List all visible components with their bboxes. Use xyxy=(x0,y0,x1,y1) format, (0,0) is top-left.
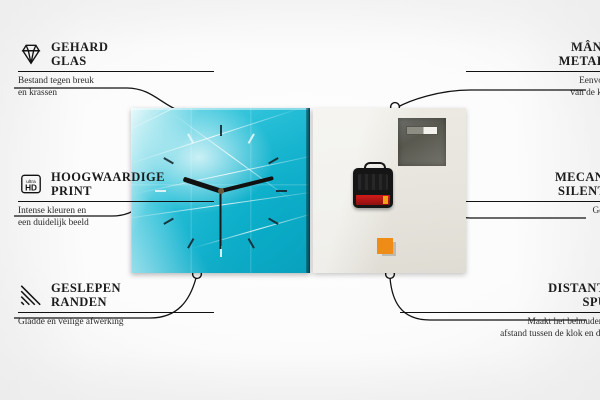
feature-mecanism-silentios: MECANISM SILENȚIOS Geruisloze wijzers va… xyxy=(466,170,600,229)
feature-title-line1: MÂNERE xyxy=(559,40,600,54)
feature-subtitle-line2: en krassen xyxy=(18,88,214,99)
infographic-canvas: GEHARD GLAS Bestand tegen breuk en krass… xyxy=(0,0,600,400)
feature-subtitle-line2: afstand tussen de klok en de muur mogeli… xyxy=(400,329,600,340)
feature-subtitle-line1: Maakt het behouden van een gelijke xyxy=(400,317,600,328)
metal-hanger-plate xyxy=(398,118,446,166)
glass-top-edge xyxy=(131,108,310,110)
divider xyxy=(18,312,214,313)
divider xyxy=(466,201,600,202)
feature-subtitle-line1: Eenvoudige installatie xyxy=(466,76,600,87)
divider xyxy=(18,71,214,72)
feature-manere-metalice: MÂNERE METALICE Eenvoudige installatie v… xyxy=(466,40,600,99)
feature-hoogwaardige-print: ultra HD HOOGWAARDIGE PRINT Intense kleu… xyxy=(18,170,214,229)
feature-title-line1: GESLEPEN xyxy=(51,281,121,295)
feature-title-line1: MECANISM xyxy=(555,170,600,184)
feature-title-line1: HOOGWAARDIGE xyxy=(51,170,165,184)
feature-subtitle-line2: van de klok aan de muur xyxy=(466,88,600,99)
battery xyxy=(356,195,390,205)
ultra-hd-icon: ultra HD xyxy=(18,171,44,197)
diamond-icon xyxy=(18,41,44,67)
svg-text:HD: HD xyxy=(25,184,37,193)
feature-subtitle-line1: Bestand tegen breuk xyxy=(18,76,214,87)
clock-back-panel xyxy=(313,108,466,273)
feature-title-line2: SILENȚIOS xyxy=(555,184,600,198)
feature-title-line2: RANDEN xyxy=(51,295,121,309)
hands-pin xyxy=(218,188,224,194)
feature-subtitle-line2: een duidelijk beeld xyxy=(18,218,214,229)
feature-title-line1: DISTANȚIER xyxy=(400,281,600,295)
diagonal-lines-icon xyxy=(18,282,44,308)
feature-geslepen-randen: GESLEPEN RANDEN Gladde en veilige afwerk… xyxy=(18,281,214,329)
feature-title-line2: GLAS xyxy=(51,54,108,68)
mechanism-hanging-loop xyxy=(364,162,386,174)
feature-title-line2: SPUMĂ xyxy=(400,295,600,309)
feature-title-line2: METALICE xyxy=(559,54,600,68)
glass-side-edge xyxy=(306,108,310,273)
divider xyxy=(400,312,600,313)
foam-spacer xyxy=(377,238,393,254)
hanger-keyhole-slot xyxy=(406,126,438,135)
feature-subtitle-line1: Intense kleuren en xyxy=(18,206,214,217)
second-hand xyxy=(220,191,222,249)
divider xyxy=(18,201,214,202)
mechanism-detail xyxy=(358,174,388,190)
feature-gehard-glas: GEHARD GLAS Bestand tegen breuk en krass… xyxy=(18,40,214,99)
feature-subtitle-line1: Gladde en veilige afwerking xyxy=(18,317,214,328)
feature-title-line2: PRINT xyxy=(51,184,165,198)
feature-subtitle-line1: Geruisloze wijzers xyxy=(466,206,600,217)
feature-subtitle-line2: van de klok xyxy=(466,218,600,229)
quartz-mechanism-box xyxy=(353,168,393,208)
divider xyxy=(466,71,600,72)
feature-distantier-spuma: DISTANȚIER SPUMĂ Maakt het behouden van … xyxy=(400,281,600,340)
feature-title-line1: GEHARD xyxy=(51,40,108,54)
